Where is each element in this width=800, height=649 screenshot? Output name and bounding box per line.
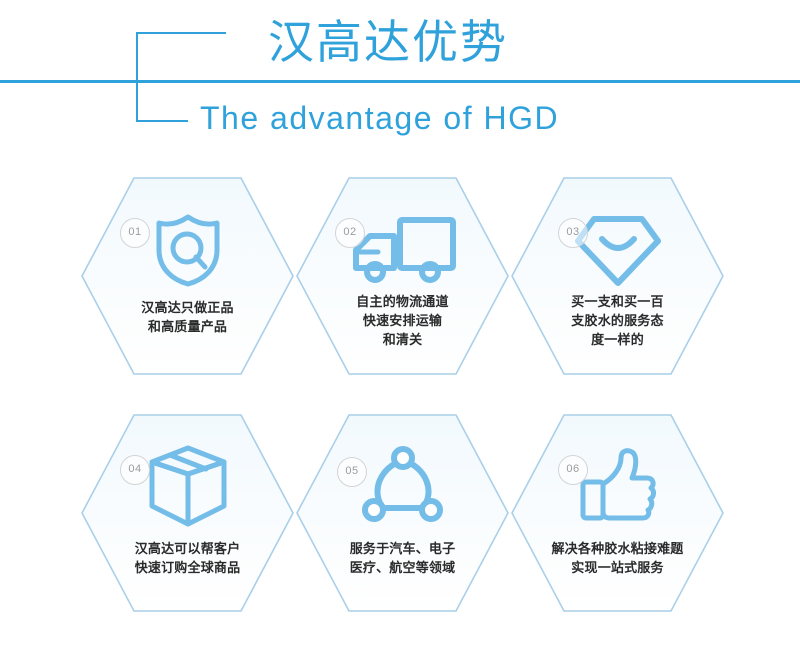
caption-line: 实现一站式服务 bbox=[510, 558, 725, 577]
bracket-vertical-line bbox=[136, 32, 138, 122]
caption-line: 快速安排运输 bbox=[295, 311, 510, 330]
page-title-cn: 汉高达优势 bbox=[268, 14, 508, 70]
page-header: 汉高达优势 The advantage of HGD bbox=[0, 0, 800, 160]
advantage-card-05[interactable]: 05 服务于汽车、电子 医疗、航空等领域 bbox=[295, 413, 510, 613]
caption-line: 度一样的 bbox=[510, 330, 725, 349]
truck-icon bbox=[295, 204, 510, 296]
card-caption: 自主的物流通道 快速安排运输 和清关 bbox=[295, 292, 510, 349]
card-caption: 汉高达只做正品 和高质量产品 bbox=[80, 298, 295, 336]
bracket-top-line bbox=[136, 32, 226, 34]
advantage-card-06[interactable]: 06 解决各种胶水粘接难题 实现一站式服务 bbox=[510, 413, 725, 613]
advantage-hex-grid: 01 汉高达只做正品 和高质量产品 02 bbox=[0, 168, 800, 638]
page-title-en: The advantage of HGD bbox=[200, 98, 559, 138]
caption-line: 快速订购全球商品 bbox=[80, 558, 295, 577]
card-caption: 解决各种胶水粘接难题 实现一站式服务 bbox=[510, 539, 725, 577]
card-number-badge: 02 bbox=[335, 218, 365, 248]
card-number-badge: 04 bbox=[120, 455, 150, 485]
advantage-card-02[interactable]: 02 自主的物流通道 快速安排运输 和清关 bbox=[295, 176, 510, 376]
caption-line: 和清关 bbox=[295, 330, 510, 349]
caption-line: 医疗、航空等领域 bbox=[295, 558, 510, 577]
card-caption: 服务于汽车、电子 医疗、航空等领域 bbox=[295, 539, 510, 577]
header-divider-rule bbox=[0, 80, 800, 83]
advantage-card-01[interactable]: 01 汉高达只做正品 和高质量产品 bbox=[80, 176, 295, 376]
caption-line: 支胶水的服务态 bbox=[510, 311, 725, 330]
diamond-smile-icon bbox=[510, 204, 725, 296]
caption-line: 汉高达可以帮客户 bbox=[80, 539, 295, 558]
card-caption: 买一支和买一百 支胶水的服务态 度一样的 bbox=[510, 292, 725, 349]
network-share-icon bbox=[295, 441, 510, 533]
shield-q-icon bbox=[80, 204, 295, 296]
card-number-badge: 06 bbox=[558, 455, 588, 485]
card-caption: 汉高达可以帮客户 快速订购全球商品 bbox=[80, 539, 295, 577]
caption-line: 买一支和买一百 bbox=[510, 292, 725, 311]
caption-line: 和高质量产品 bbox=[80, 317, 295, 336]
card-number-badge: 01 bbox=[120, 218, 150, 248]
card-number-badge: 05 bbox=[337, 457, 367, 487]
caption-line: 解决各种胶水粘接难题 bbox=[510, 539, 725, 558]
thumbs-up-icon bbox=[510, 441, 725, 533]
advantage-card-04[interactable]: 04 汉高达可以帮客户 快速订购全球商品 bbox=[80, 413, 295, 613]
box-icon bbox=[80, 441, 295, 533]
advantage-card-03[interactable]: 03 买一支和买一百 支胶水的服务态 度一样的 bbox=[510, 176, 725, 376]
caption-line: 服务于汽车、电子 bbox=[295, 539, 510, 558]
caption-line: 汉高达只做正品 bbox=[80, 298, 295, 317]
bracket-bottom-line bbox=[136, 120, 188, 122]
caption-line: 自主的物流通道 bbox=[295, 292, 510, 311]
card-number-badge: 03 bbox=[558, 218, 588, 248]
